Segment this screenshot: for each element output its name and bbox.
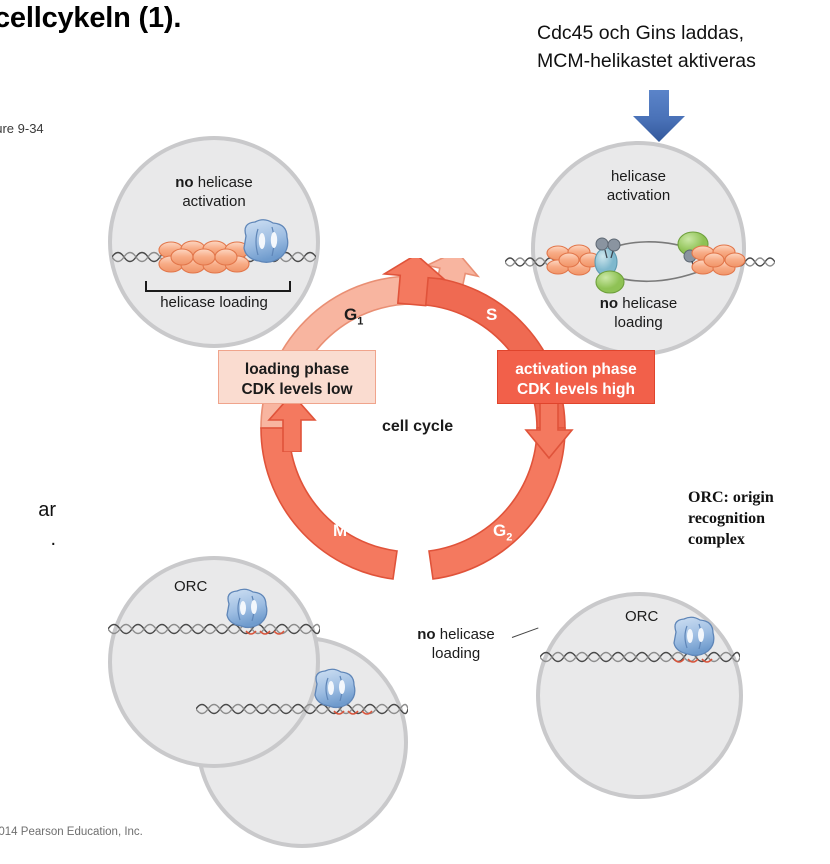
left-note-line-2: .	[0, 525, 56, 554]
bottom-note-bold: no	[417, 626, 435, 643]
orc-complex-bl-b	[309, 668, 359, 717]
phase-label-g1-text: G	[344, 305, 357, 324]
orc-label-br: ORC	[625, 608, 658, 625]
orc-legend-line-2: recognition	[688, 508, 818, 529]
activation-phase-box: activation phase CDK levels high	[497, 350, 655, 404]
copyright-text: 2014 Pearson Education, Inc.	[0, 826, 143, 838]
dna-strand-bl-a	[108, 620, 320, 638]
bottom-note-line-2: loading	[396, 645, 516, 664]
bottom-note-line-1: no helicase	[396, 626, 516, 645]
down-arrow-icon	[628, 88, 690, 144]
page-title: cellcykeln (1).	[0, 2, 181, 35]
bubble-tl-title: no helicase activation	[108, 174, 320, 212]
dna-strand-bl-b	[196, 700, 408, 718]
activation-phase-arrow	[516, 398, 582, 465]
orc-complex-br	[668, 616, 718, 665]
activation-phase-line-1: activation phase	[498, 360, 654, 380]
left-cutoff-note: ar .	[0, 496, 56, 554]
mcm-complex-tr-right	[690, 243, 750, 284]
cell-cycle-center-label: cell cycle	[382, 418, 453, 436]
figure-caption: gure 9-34	[0, 121, 44, 136]
annotation-text: Cdc45 och Gins laddas, MCM-helikastet ak…	[537, 20, 827, 75]
orc-label-bl-a: ORC	[174, 578, 207, 595]
phase-label-s: S	[486, 305, 497, 325]
annotation-line-1: Cdc45 och Gins laddas,	[537, 20, 827, 48]
loading-phase-line-1: loading phase	[219, 360, 375, 380]
bubble-tl-line2: activation	[108, 193, 320, 212]
loading-phase-line-2: CDK levels low	[219, 380, 375, 400]
cdc45-gins-tr-left	[586, 236, 640, 301]
bubble-tr-line1: helicase	[531, 168, 746, 187]
bottom-note: no helicase loading	[396, 626, 516, 664]
bubble-tr-title: helicase activation	[531, 168, 746, 206]
bottom-note-rest: helicase	[436, 626, 495, 643]
activation-phase-line-2: CDK levels high	[498, 380, 654, 400]
phase-label-m: M	[333, 521, 347, 541]
bubble-tl-bold: no	[175, 174, 193, 191]
phase-label-g1: G1	[344, 305, 363, 327]
orc-legend-line-3: complex	[688, 529, 818, 550]
phase-label-g2-text: G	[493, 521, 506, 540]
orc-legend: ORC: origin recognition complex	[688, 487, 818, 550]
phase-label-g2: G2	[493, 521, 512, 543]
left-note-line-1: ar	[0, 496, 56, 525]
phase-label-g2-sub: 2	[506, 531, 512, 543]
annotation-line-2: MCM-helikastet aktiveras	[537, 48, 827, 76]
orc-legend-line-1: ORC: origin	[688, 487, 818, 508]
loading-phase-box: loading phase CDK levels low	[218, 350, 376, 404]
phase-label-g1-sub: 1	[357, 315, 363, 327]
bubble-tl-rest: helicase	[194, 174, 253, 191]
bubble-tr-line2: activation	[531, 187, 746, 206]
